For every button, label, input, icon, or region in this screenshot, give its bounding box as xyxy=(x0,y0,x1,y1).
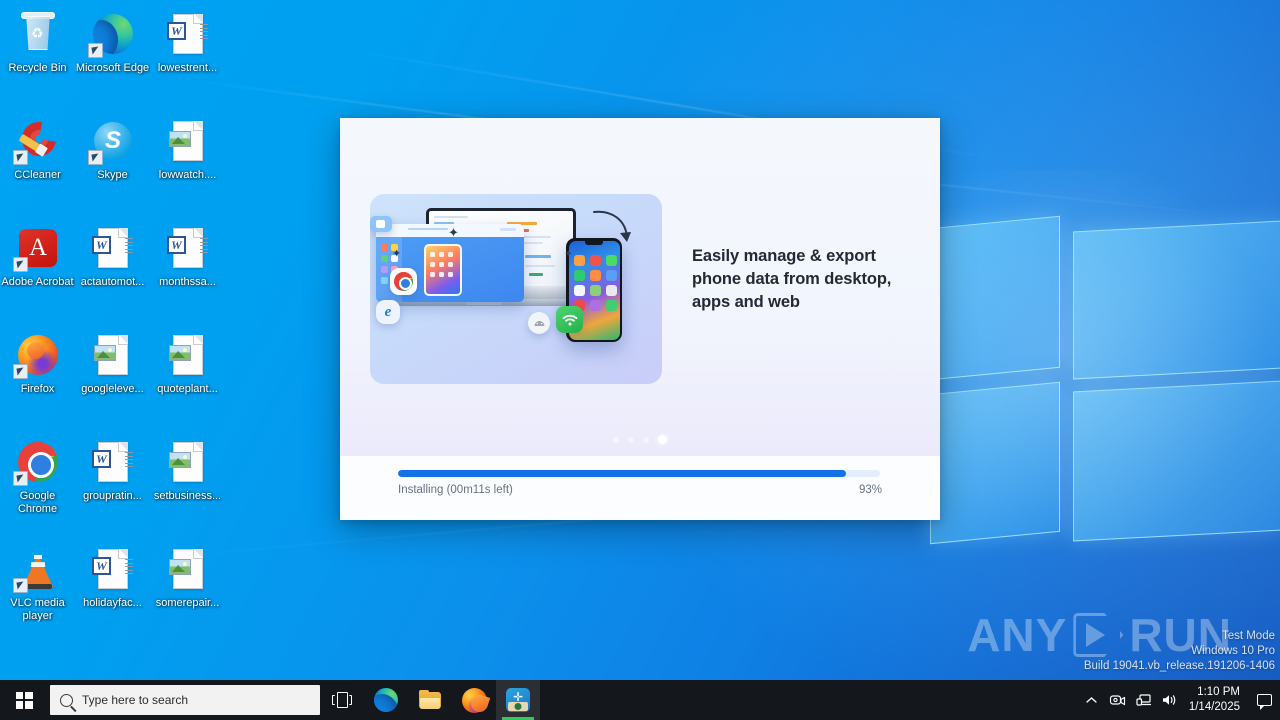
windows-logo-icon xyxy=(16,692,33,709)
install-status-text: Installing (00m11s left) xyxy=(398,484,513,496)
word-doc-icon: W xyxy=(165,226,210,271)
desktop-icon-groupratin[interactable]: Wgroupratin... xyxy=(75,432,150,539)
desktop-icon-label: Google Chrome xyxy=(1,490,75,515)
desktop-icon-somerepair[interactable]: somerepair... xyxy=(150,539,225,646)
desktop-icon-label: actautomot... xyxy=(76,276,150,289)
desktop-icon-label: monthssa... xyxy=(151,276,225,289)
shortcut-overlay-icon xyxy=(13,150,28,165)
system-tray: 1:10 PM 1/14/2025 xyxy=(1079,680,1280,720)
desktop-icon-googleleve[interactable]: googleleve... xyxy=(75,325,150,432)
desktop-icon-label: CCleaner xyxy=(1,169,75,182)
word-doc-icon: W xyxy=(90,226,135,271)
desktop-icon-label: groupratin... xyxy=(76,490,150,503)
acrobat-icon: A xyxy=(15,226,60,271)
desktop-icon-label: Firefox xyxy=(1,383,75,396)
image-doc-icon xyxy=(90,333,135,378)
clock-time: 1:10 PM xyxy=(1197,685,1240,700)
desktop-icon-monthssa[interactable]: Wmonthssa... xyxy=(150,218,225,325)
progress-bar-fill xyxy=(398,470,846,477)
sparkle-icon: ✦ xyxy=(448,226,459,239)
notification-balloon-icon xyxy=(1257,694,1272,706)
firefox-icon xyxy=(462,688,487,713)
promo-illustration: e ✦ ✦ ✦ xyxy=(370,194,662,384)
search-input[interactable]: Type here to search xyxy=(50,685,320,715)
wifi-badge-icon xyxy=(556,306,583,333)
start-button[interactable] xyxy=(0,680,48,720)
show-hidden-icons-chevron-icon[interactable] xyxy=(1079,680,1105,720)
word-doc-icon: W xyxy=(165,12,210,57)
desktop-icon-holidayfac[interactable]: Wholidayfac... xyxy=(75,539,150,646)
desktop-icon-adobe-acrobat[interactable]: AAdobe Acrobat xyxy=(0,218,75,325)
search-placeholder: Type here to search xyxy=(82,693,188,707)
desktop-icon-label: googleleve... xyxy=(76,383,150,396)
shortcut-overlay-icon xyxy=(13,257,28,272)
desktop-icon-label: Adobe Acrobat xyxy=(1,276,75,289)
desktop-icon-label: Microsoft Edge xyxy=(76,62,150,75)
taskbar-item-installer[interactable]: ✛ xyxy=(496,680,540,720)
shortcut-overlay-icon xyxy=(88,150,103,165)
notification-center-button[interactable] xyxy=(1250,680,1278,720)
desktop-icon-quoteplant[interactable]: quoteplant... xyxy=(150,325,225,432)
windows-hero-panels xyxy=(905,200,1280,530)
chrome-badge-icon xyxy=(390,268,417,295)
search-icon xyxy=(60,694,73,707)
android-badge-icon xyxy=(528,312,550,334)
taskbar: Type here to search ✛ xyxy=(0,680,1280,720)
firefox-icon xyxy=(15,333,60,378)
desktop-icon-lowwatch[interactable]: lowwatch.... xyxy=(150,111,225,218)
image-doc-icon xyxy=(165,547,210,592)
desktop-icon-vlc-media-player[interactable]: VLC media player xyxy=(0,539,75,646)
desktop-icon-skype[interactable]: SSkype xyxy=(75,111,150,218)
shortcut-overlay-icon xyxy=(13,364,28,379)
taskbar-item-task-view[interactable] xyxy=(320,680,364,720)
taskbar-item-edge[interactable] xyxy=(364,680,408,720)
recording-camera-icon[interactable] xyxy=(1105,680,1131,720)
progress-bar-track xyxy=(398,470,880,477)
word-doc-icon: W xyxy=(90,440,135,485)
sparkle-icon: ✦ xyxy=(392,249,401,260)
carousel-dot[interactable] xyxy=(628,437,634,443)
desktop-icon-label: lowestrent... xyxy=(151,62,225,75)
progress-area: Installing (00m11s left) 93% xyxy=(340,456,940,520)
taskbar-item-firefox[interactable] xyxy=(452,680,496,720)
desktop-icon-firefox[interactable]: Firefox xyxy=(0,325,75,432)
desktop-icon-label: somerepair... xyxy=(151,597,225,610)
recycle-bin-icon: ♻ xyxy=(15,12,60,57)
image-doc-icon xyxy=(165,119,210,164)
desktop-icon-grid: ♻Recycle BinMicrosoft EdgeWlowestrent...… xyxy=(0,4,230,646)
desktop-icon-label: lowwatch.... xyxy=(151,169,225,182)
vlc-icon xyxy=(15,547,60,592)
desktop-icon-ccleaner[interactable]: CCleaner xyxy=(0,111,75,218)
task-view-icon xyxy=(332,692,352,708)
shortcut-overlay-icon xyxy=(13,578,28,593)
clock-date: 1/14/2025 xyxy=(1189,700,1240,715)
tag-badge-icon xyxy=(370,216,392,232)
edge-icon xyxy=(90,12,135,57)
carousel-dots[interactable] xyxy=(340,437,940,445)
desktop-icon-label: Skype xyxy=(76,169,150,182)
install-percent-text: 93% xyxy=(859,484,882,496)
desktop-icon-label: setbusiness... xyxy=(151,490,225,503)
desktop-icon-google-chrome[interactable]: Google Chrome xyxy=(0,432,75,539)
phone-app-grid xyxy=(574,255,618,311)
desktop-icon-microsoft-edge[interactable]: Microsoft Edge xyxy=(75,4,150,111)
desktop-icon-setbusiness[interactable]: setbusiness... xyxy=(150,432,225,539)
transfer-arrow-icon xyxy=(592,208,634,252)
ccleaner-icon xyxy=(15,119,60,164)
desktop-icon-label: holidayfac... xyxy=(76,597,150,610)
carousel-dot-active[interactable] xyxy=(658,435,667,444)
image-doc-icon xyxy=(165,333,210,378)
word-doc-icon: W xyxy=(90,547,135,592)
volume-icon[interactable] xyxy=(1157,680,1183,720)
shortcut-overlay-icon xyxy=(88,43,103,58)
promo-panel: e ✦ ✦ ✦ xyxy=(340,118,940,456)
sparkle-icon: ✦ xyxy=(564,250,572,260)
chrome-icon xyxy=(15,440,60,485)
edge-badge-icon: e xyxy=(376,300,400,324)
installer-app-icon: ✛ xyxy=(506,688,530,712)
folder-icon xyxy=(419,691,441,709)
installer-window[interactable]: e ✦ ✦ ✦ xyxy=(340,118,940,520)
promo-headline: Easily manage & export phone data from d… xyxy=(692,245,916,314)
desktop-icon-label: quoteplant... xyxy=(151,383,225,396)
edge-icon xyxy=(374,688,398,712)
desktop-icon-recycle-bin[interactable]: ♻Recycle Bin xyxy=(0,4,75,111)
image-doc-icon xyxy=(165,440,210,485)
desktop-icon-label: VLC media player xyxy=(1,597,75,622)
skype-icon: S xyxy=(90,119,135,164)
carousel-dot[interactable] xyxy=(643,437,649,443)
network-icon[interactable] xyxy=(1131,680,1157,720)
desktop-icon-lowestrent[interactable]: Wlowestrent... xyxy=(150,4,225,111)
shortcut-overlay-icon xyxy=(13,471,28,486)
carousel-dot[interactable] xyxy=(613,437,619,443)
taskbar-item-explorer[interactable] xyxy=(408,680,452,720)
desktop-icon-actautomot[interactable]: Wactautomot... xyxy=(75,218,150,325)
desktop-icon-label: Recycle Bin xyxy=(1,62,75,75)
clock[interactable]: 1:10 PM 1/14/2025 xyxy=(1183,680,1250,720)
